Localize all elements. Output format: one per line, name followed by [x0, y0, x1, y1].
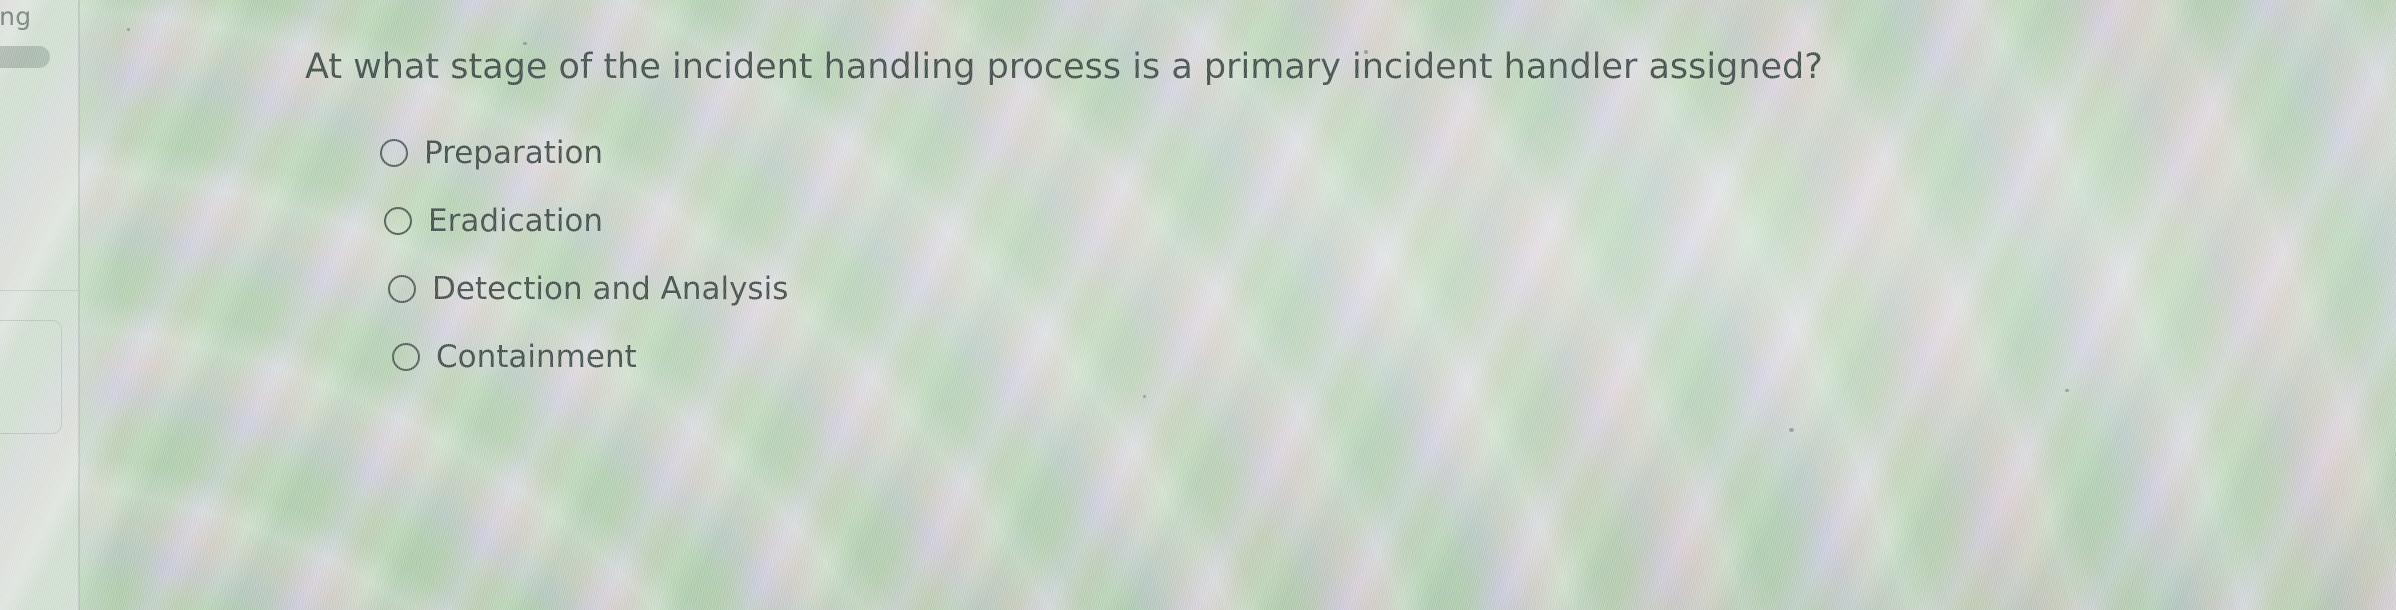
screen-photo: ing At what stage of the incident handli…	[0, 0, 2396, 610]
radio-button-icon[interactable]	[380, 139, 408, 167]
quiz-content: At what stage of the incident handling p…	[0, 0, 2396, 610]
answer-option-preparation[interactable]: Preparation	[380, 130, 788, 176]
radio-button-icon[interactable]	[384, 207, 412, 235]
radio-button-icon[interactable]	[392, 343, 420, 371]
radio-button-icon[interactable]	[388, 275, 416, 303]
answer-option-label: Eradication	[428, 201, 603, 241]
answer-option-label: Detection and Analysis	[432, 269, 788, 309]
question-text: At what stage of the incident handling p…	[305, 44, 1823, 90]
answer-option-eradication[interactable]: Eradication	[384, 198, 788, 244]
answer-option-label: Containment	[436, 337, 637, 377]
answer-option-containment[interactable]: Containment	[392, 334, 788, 380]
answer-option-label: Preparation	[424, 133, 603, 173]
answer-options-list: Preparation Eradication Detection and An…	[380, 130, 788, 402]
answer-option-detection-and-analysis[interactable]: Detection and Analysis	[388, 266, 788, 312]
